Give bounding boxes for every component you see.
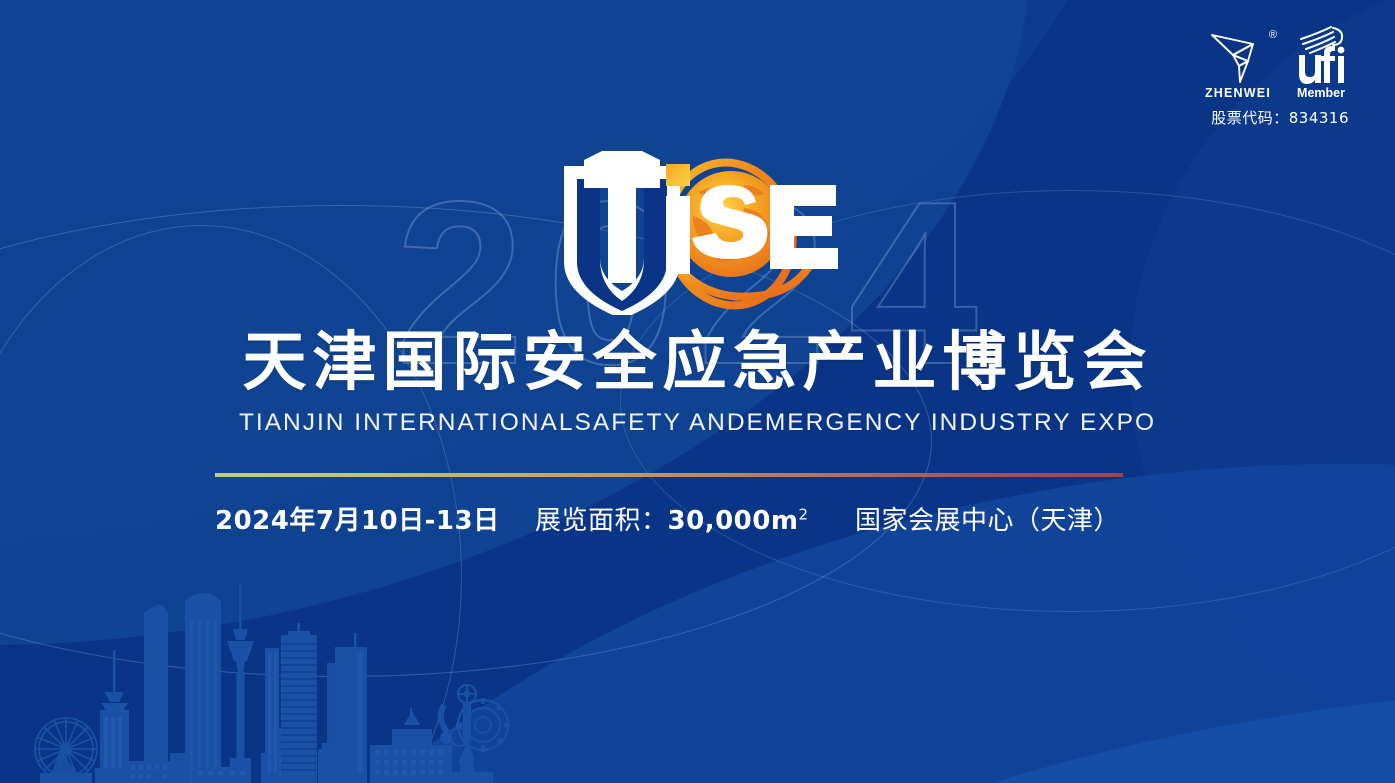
zhenwei-bird-logo: ® xyxy=(1209,22,1267,84)
expo-poster: 2024 xyxy=(0,0,1395,783)
logo-row: ® ZHENWEI xyxy=(1205,22,1349,100)
gradient-divider xyxy=(215,473,1123,477)
zhenwei-wordmark: ZHENWEI xyxy=(1205,86,1271,100)
event-date: 2024年7月10日-13日 xyxy=(215,500,535,537)
stock-code: 股票代码：834316 xyxy=(1211,107,1349,128)
ufi-logo-block: Member xyxy=(1293,23,1349,100)
title-block: 天津国际安全应急产业博览会 TIANJIN INTERNATIONALSAFET… xyxy=(0,330,1395,437)
letter-i-dot xyxy=(666,164,690,186)
exhibition-area-unit: m xyxy=(771,506,799,536)
exhibition-area-label: 展览面积： xyxy=(535,506,668,536)
ufi-swoosh-logo xyxy=(1293,23,1349,85)
exhibition-area-value: 30,000 xyxy=(668,506,771,536)
exhibition-area-unit-exponent: 2 xyxy=(798,505,808,523)
ufi-member-label: Member xyxy=(1297,86,1345,100)
exhibition-area: 展览面积：30,000m2 xyxy=(535,500,855,537)
tianjin-skyline-silhouette xyxy=(0,553,560,783)
corner-logos: ® ZHENWEI xyxy=(1205,22,1349,128)
page-title-chinese: 天津国际安全应急产业博览会 xyxy=(0,330,1395,397)
event-venue: 国家会展中心（天津） xyxy=(855,500,1130,537)
page-title-english: TIANJIN INTERNATIONALSAFETY ANDEMERGENCY… xyxy=(0,409,1395,437)
tise-shield-globe-logo xyxy=(548,150,848,315)
info-bar: 2024年7月10日-13日 展览面积：30,000m2 国家会展中心（天津） xyxy=(215,500,1130,537)
zhenwei-logo-block: ® ZHENWEI xyxy=(1205,22,1271,100)
registered-mark-icon: ® xyxy=(1269,30,1277,41)
